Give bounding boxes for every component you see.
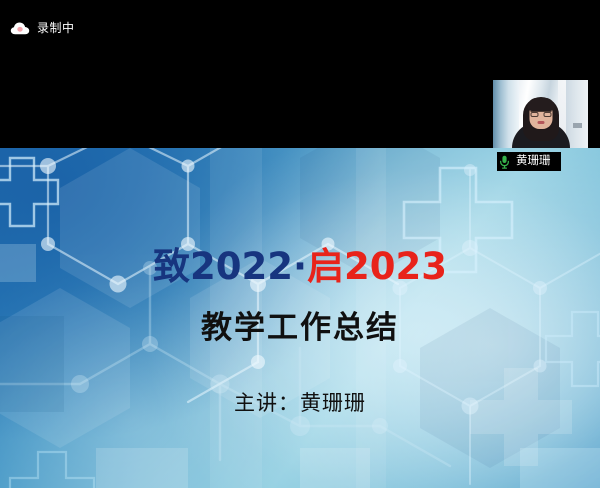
participant-name-label: 黄珊珊 <box>516 155 551 168</box>
recording-indicator: 录制中 <box>10 18 75 38</box>
participant-name-strip[interactable]: 黄珊珊 <box>497 152 561 171</box>
video-person-glasses <box>530 111 551 116</box>
video-curtain-right <box>566 80 588 150</box>
video-person-lips <box>537 121 544 124</box>
meeting-screen-share-view: 录制中 黄珊珊 <box>0 0 600 488</box>
cloud-recording-icon <box>10 21 30 35</box>
microphone-icon[interactable] <box>499 155 510 169</box>
recording-label: 录制中 <box>37 21 75 35</box>
video-window-shade <box>573 123 582 128</box>
video-person-hair-top <box>527 98 554 111</box>
shared-presentation-slide[interactable]: 致2022·启2023 教学工作总结 主讲：黄珊珊 <box>0 148 600 488</box>
self-view-video-tile[interactable] <box>493 80 588 150</box>
slide-background-pattern <box>0 148 600 488</box>
